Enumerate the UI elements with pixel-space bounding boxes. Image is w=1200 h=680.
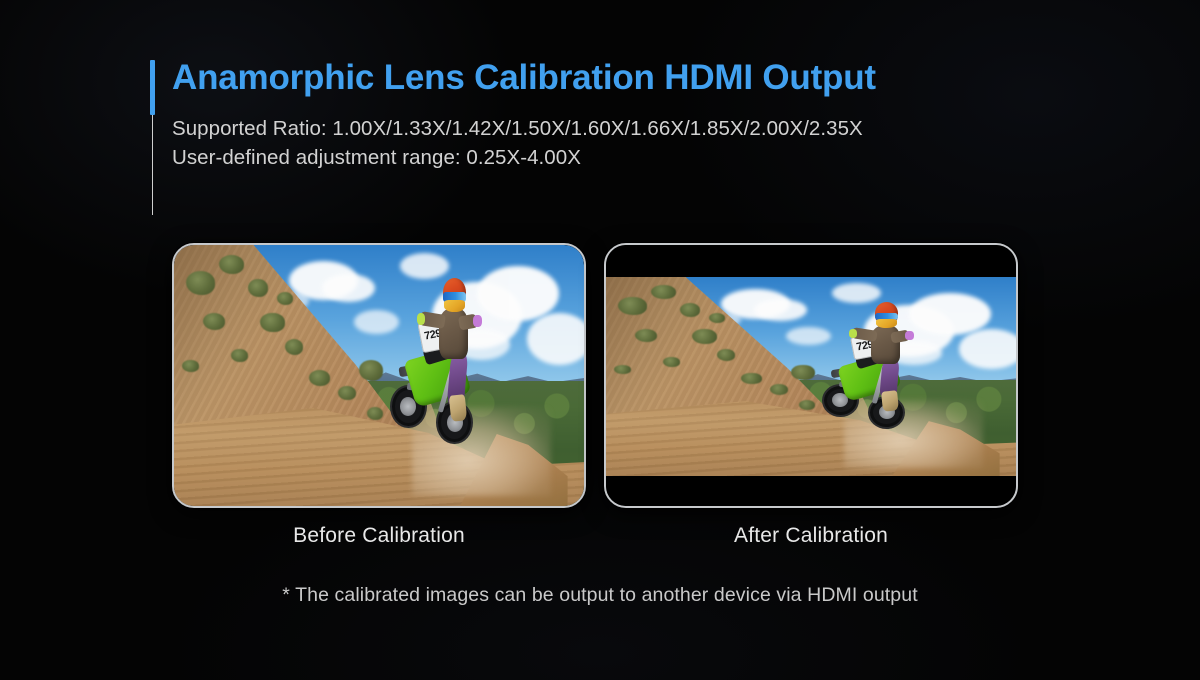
scrub-bush xyxy=(717,349,735,361)
helmet-chin-guard xyxy=(444,300,465,312)
photo-viewport-after: 729 xyxy=(606,277,1016,476)
cloud-icon xyxy=(832,283,881,303)
header-block: Anamorphic Lens Calibration HDMI Output … xyxy=(150,58,1050,172)
cloud-icon xyxy=(527,313,584,365)
scrub-bush xyxy=(692,329,717,344)
helmet-chin-guard xyxy=(876,319,897,328)
scrub-bush xyxy=(359,360,384,381)
panel-after-calibration: 729 xyxy=(604,243,1018,508)
scrub-bush xyxy=(285,339,303,355)
scrub-bush xyxy=(651,285,676,299)
scrub-bush xyxy=(635,329,658,342)
caption-after-calibration: After Calibration xyxy=(604,524,1018,548)
scrub-bush xyxy=(231,349,247,362)
rider-right-glove xyxy=(905,331,914,340)
rider-and-bike: 729 xyxy=(819,305,942,456)
scrub-bush xyxy=(614,365,630,374)
screen-frame-before: 729 xyxy=(172,243,586,508)
scrub-bush xyxy=(260,313,285,333)
supported-ratio-line: Supported Ratio: 1.00X/1.33X/1.42X/1.50X… xyxy=(172,114,1050,143)
slide-stage: Anamorphic Lens Calibration HDMI Output … xyxy=(0,0,1200,680)
accent-line xyxy=(152,115,153,215)
scrub-bush xyxy=(367,407,383,420)
cloud-icon xyxy=(959,329,1016,369)
scrub-bush xyxy=(709,313,725,323)
scrub-bush xyxy=(663,357,679,367)
comparison-panels: 729 xyxy=(0,243,1200,553)
screen-surface-after: 729 xyxy=(606,245,1016,506)
rider-and-bike: 729 xyxy=(387,282,510,480)
scrub-bush xyxy=(182,360,198,372)
screen-frame-after: 729 xyxy=(604,243,1018,508)
scrub-bush xyxy=(219,255,244,273)
caption-before-calibration: Before Calibration xyxy=(172,524,586,548)
scrub-bush xyxy=(338,386,356,400)
rider-right-glove xyxy=(473,315,482,327)
scrub-bush xyxy=(309,370,330,386)
scrub-bush xyxy=(186,271,215,294)
page-title: Anamorphic Lens Calibration HDMI Output xyxy=(172,58,1050,97)
rider-boot xyxy=(881,390,899,411)
cloud-icon xyxy=(322,274,375,303)
scrub-bush xyxy=(680,303,701,317)
scrub-bush xyxy=(741,373,762,385)
rider-left-glove xyxy=(417,313,426,325)
accent-bar xyxy=(150,60,155,115)
scrub-bush xyxy=(248,279,269,297)
scrub-bush xyxy=(791,365,816,381)
footnote-text: * The calibrated images can be output to… xyxy=(0,584,1200,607)
user-defined-range-line: User-defined adjustment range: 0.25X-4.0… xyxy=(172,143,1050,172)
scrub-bush xyxy=(277,292,293,305)
motocross-photo-after: 729 xyxy=(606,277,1016,476)
rider-left-glove xyxy=(849,329,858,338)
scrub-bush xyxy=(203,313,226,330)
screen-surface-before: 729 xyxy=(174,245,584,506)
motocross-photo-before: 729 xyxy=(174,245,584,506)
rider-boot xyxy=(449,394,468,421)
panel-before-calibration: 729 xyxy=(172,243,586,508)
scrub-bush xyxy=(618,297,647,315)
cloud-icon xyxy=(754,299,807,321)
subtitle-block: Supported Ratio: 1.00X/1.33X/1.42X/1.50X… xyxy=(172,114,1050,172)
cloud-icon xyxy=(400,253,449,279)
photo-viewport-before: 729 xyxy=(174,245,584,506)
